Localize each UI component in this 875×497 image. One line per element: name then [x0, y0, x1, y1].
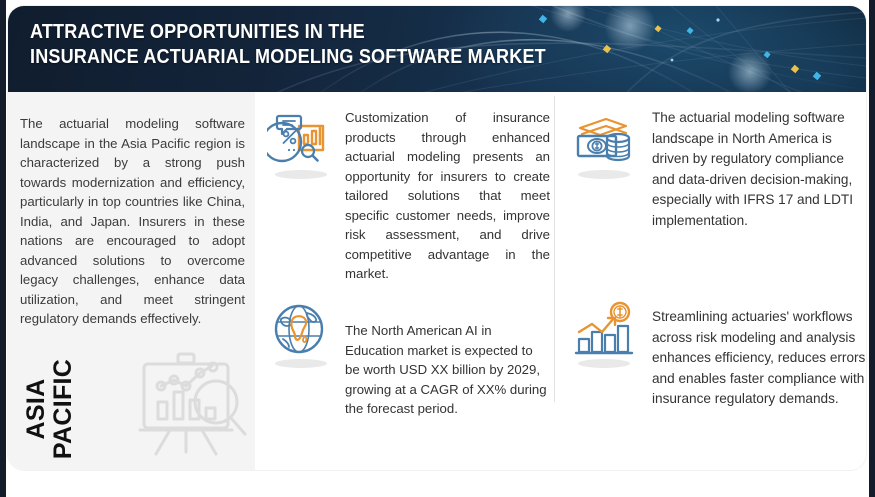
- middle-column: Customization of insurance products thro…: [255, 92, 554, 470]
- icon-shadow: [578, 359, 630, 368]
- infographic-card: ATTRACTIVE OPPORTUNITIES IN THE INSURANC…: [8, 6, 866, 470]
- header-banner: ATTRACTIVE OPPORTUNITIES IN THE INSURANC…: [8, 6, 866, 92]
- page-title: ATTRACTIVE OPPORTUNITIES IN THE INSURANC…: [30, 19, 546, 69]
- list-item-text: The North American AI in Education marke…: [345, 321, 548, 419]
- presentation-board-chart-magnifier-icon: [130, 350, 260, 462]
- left-region-panel: The actuarial modeling software landscap…: [8, 92, 255, 470]
- list-item: The actuarial modeling software landscap…: [570, 108, 866, 231]
- region-label-asia-pacific: ASIA PACIFIC: [23, 349, 77, 469]
- list-item: Customization of insurance products thro…: [267, 108, 555, 284]
- icon-shadow: [275, 170, 327, 179]
- body-area: The actuarial modeling software landscap…: [8, 92, 866, 470]
- list-item-text: Streamlining actuaries' workflows across…: [652, 307, 866, 410]
- globe-icon: [267, 297, 335, 365]
- list-item-text: The actuarial modeling software landscap…: [652, 108, 866, 231]
- analytics-percentage-chart-search-icon: [267, 108, 335, 176]
- list-item: The North American AI in Education marke…: [267, 297, 555, 419]
- infographic-page: ATTRACTIVE OPPORTUNITIES IN THE INSURANC…: [0, 0, 875, 497]
- right-column: The actuarial modeling software landscap…: [554, 92, 866, 470]
- icon-shadow: [578, 170, 630, 179]
- list-item-text: Customization of insurance products thro…: [345, 108, 550, 284]
- frame-edge-left: [0, 0, 6, 497]
- growth-bar-chart-dollar-icon: [570, 297, 638, 365]
- left-panel-paragraph: The actuarial modeling software landscap…: [20, 114, 245, 329]
- frame-edge-right: [869, 0, 875, 497]
- money-banknote-coins-icon: [570, 108, 638, 176]
- icon-shadow: [275, 359, 327, 368]
- list-item: Streamlining actuaries' workflows across…: [570, 297, 866, 410]
